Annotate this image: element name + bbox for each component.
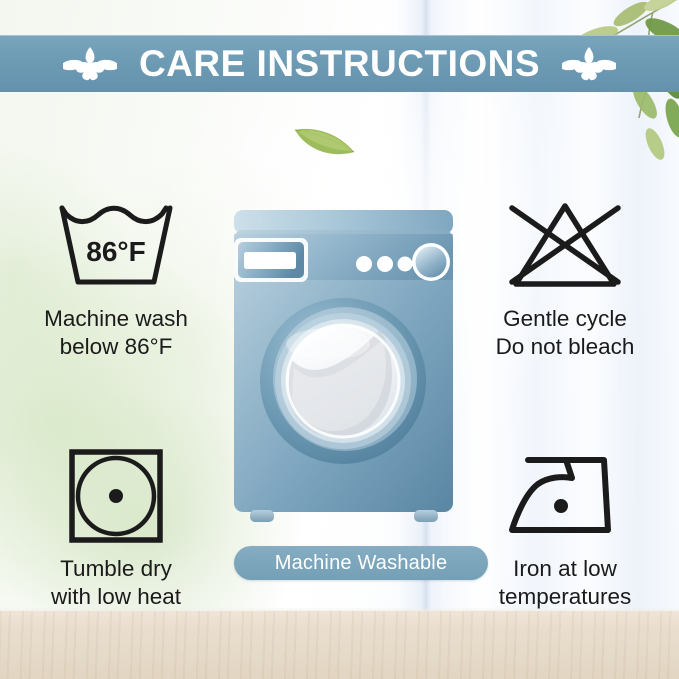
header-banner: CARE INSTRUCTIONS bbox=[0, 35, 679, 92]
fleur-de-lis-icon-right bbox=[562, 44, 616, 84]
care-label-tumble-dry: Tumble dry with low heat bbox=[51, 555, 181, 611]
tumble-dry-low-icon bbox=[66, 446, 166, 546]
wash-temperature-text: 86°F bbox=[86, 236, 145, 267]
page-title: CARE INSTRUCTIONS bbox=[139, 45, 540, 82]
care-item-iron-low: Iron at low temperatures bbox=[460, 446, 670, 611]
machine-washable-badge: Machine Washable bbox=[234, 546, 488, 580]
care-label-machine-wash: Machine wash below 86°F bbox=[44, 305, 188, 361]
iron-one-dot-icon bbox=[504, 446, 626, 546]
washing-machine-illustration bbox=[232, 208, 455, 538]
triangle-crossed-out-icon bbox=[504, 196, 626, 296]
wooden-table-surface bbox=[0, 611, 679, 679]
care-label-do-not-bleach: Gentle cycle Do not bleach bbox=[496, 305, 635, 361]
fleur-de-lis-icon-left bbox=[63, 44, 117, 84]
care-instructions-infographic: CARE INSTRUCTIONS 86°F Machine wash belo… bbox=[0, 0, 679, 679]
floating-leaf-decoration bbox=[292, 118, 360, 162]
care-item-do-not-bleach: Gentle cycle Do not bleach bbox=[460, 196, 670, 361]
care-item-tumble-dry: Tumble dry with low heat bbox=[11, 446, 221, 611]
wash-tub-icon: 86°F bbox=[52, 196, 180, 296]
care-label-iron-low: Iron at low temperatures bbox=[499, 555, 632, 611]
care-item-machine-wash: 86°F Machine wash below 86°F bbox=[11, 196, 221, 361]
